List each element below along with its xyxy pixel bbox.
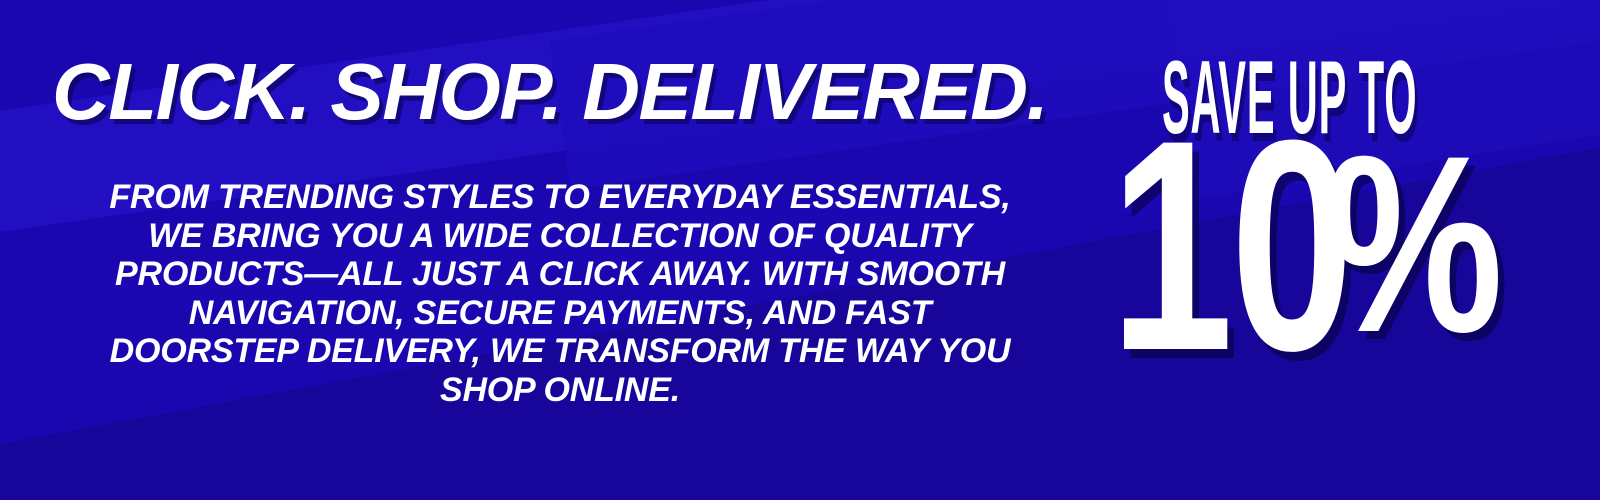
body-copy-line: NAVIGATION, SECURE PAYMENTS, AND FAST [40, 294, 1080, 333]
body-copy-line: PRODUCTS—ALL JUST A CLICK AWAY. WITH SMO… [40, 255, 1080, 294]
discount-amount: 10 % [1110, 128, 1548, 362]
banner-text-block: CLICK. SHOP. DELIVERED. FROM TRENDING ST… [0, 0, 1090, 500]
body-copy-line: DOORSTEP DELIVERY, WE TRANSFORM THE WAY … [40, 332, 1080, 371]
body-copy-line: FROM TRENDING STYLES TO EVERYDAY ESSENTI… [40, 178, 1080, 217]
body-copy-line: SHOP ONLINE. [40, 371, 1080, 410]
body-copy-line: WE BRING YOU A WIDE COLLECTION OF QUALIT… [40, 217, 1080, 256]
percent-sign: % [1324, 128, 1503, 362]
banner-content: CLICK. SHOP. DELIVERED. FROM TRENDING ST… [0, 0, 1600, 500]
banner-headline: CLICK. SHOP. DELIVERED. [52, 52, 1047, 132]
promo-banner: CLICK. SHOP. DELIVERED. FROM TRENDING ST… [0, 0, 1600, 500]
discount-number: 10 [1110, 128, 1351, 362]
banner-body-copy: FROM TRENDING STYLES TO EVERYDAY ESSENTI… [40, 178, 1080, 409]
discount-callout: SAVE UP TO 10 % [1100, 0, 1600, 500]
